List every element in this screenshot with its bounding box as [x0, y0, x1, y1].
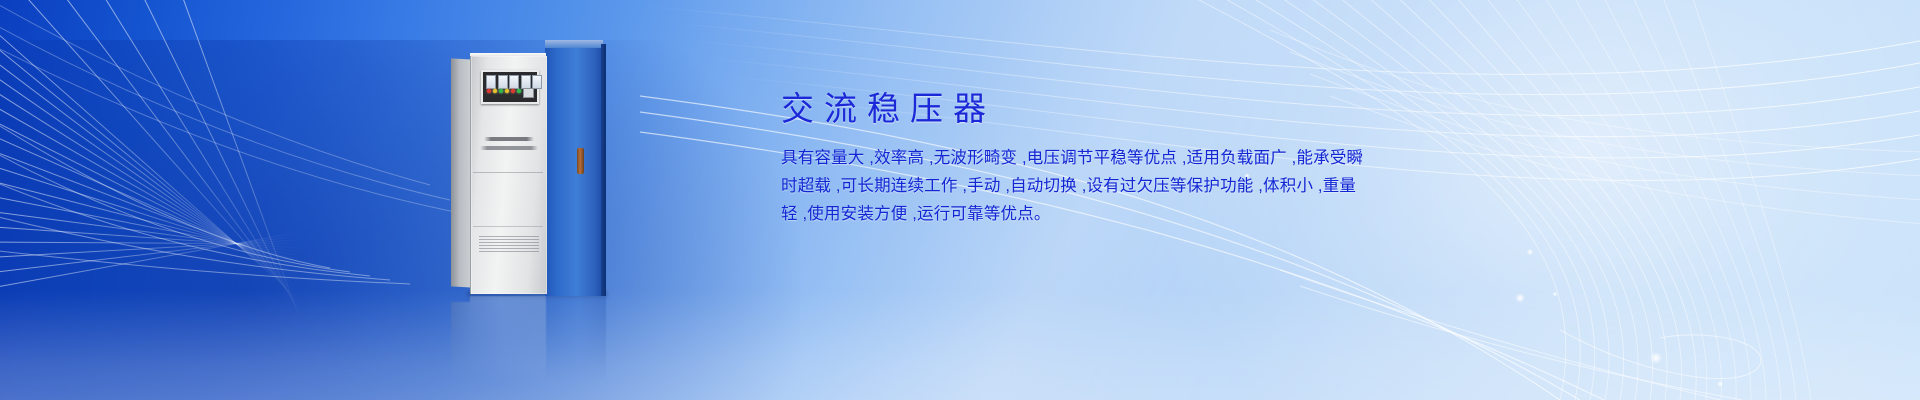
cabinet-vent-grille [479, 236, 539, 254]
indicator-lamp-green [517, 89, 521, 93]
indicator-lamp-yellow [505, 89, 509, 93]
cabinet-blue-edge [601, 44, 606, 296]
cabinet-door-seam [473, 226, 543, 227]
cabinet-door-handle [577, 148, 584, 174]
cabinet-subtitle-label [480, 146, 538, 150]
banner-description: 具有容量大 ,效率高 ,无波形畸变 ,电压调节平稳等优点 ,适用负载面广 ,能承… [781, 144, 1501, 228]
meter-gauge [509, 75, 519, 89]
cabinet-blue-top [545, 40, 603, 48]
banner-copy: 交流稳压器 具有容量大 ,效率高 ,无波形畸变 ,电压调节平稳等优点 ,适用负载… [781, 88, 1501, 228]
indicator-lamp-red [511, 89, 515, 93]
product-banner: 交流稳压器 具有容量大 ,效率高 ,无波形畸变 ,电压调节平稳等优点 ,适用负载… [0, 0, 1920, 400]
meter-row [486, 75, 542, 89]
description-line-1: 具有容量大 ,效率高 ,无波形畸变 ,电压调节平稳等优点 ,适用负载面广 ,能承… [781, 144, 1501, 172]
indicator-lamp-green [499, 89, 503, 93]
indicator-lamp-red [487, 89, 491, 93]
meter-gauge [521, 75, 531, 89]
indicator-lamp-yellow [493, 89, 497, 93]
indicator-lamp-row [487, 89, 527, 93]
voltage-stabilizer-cabinet [437, 40, 637, 295]
banner-title: 交流稳压器 [781, 88, 1501, 129]
control-knob [523, 88, 534, 98]
meter-gauge [486, 75, 496, 89]
cabinet-blue-body [545, 44, 603, 296]
control-panel [481, 70, 539, 104]
meter-gauge [532, 75, 542, 89]
meter-gauge [498, 75, 508, 89]
floor-reflection-band [0, 290, 1920, 400]
cabinet-model-label [484, 137, 534, 141]
description-line-3: 轻 ,使用安装方便 ,运行可靠等优点。 [781, 200, 1501, 228]
cabinet-door-seam [473, 172, 543, 173]
description-line-2: 时超载 ,可长期连续工作 ,手动 ,自动切换 ,设有过欠压等保护功能 ,体积小 … [781, 172, 1501, 200]
